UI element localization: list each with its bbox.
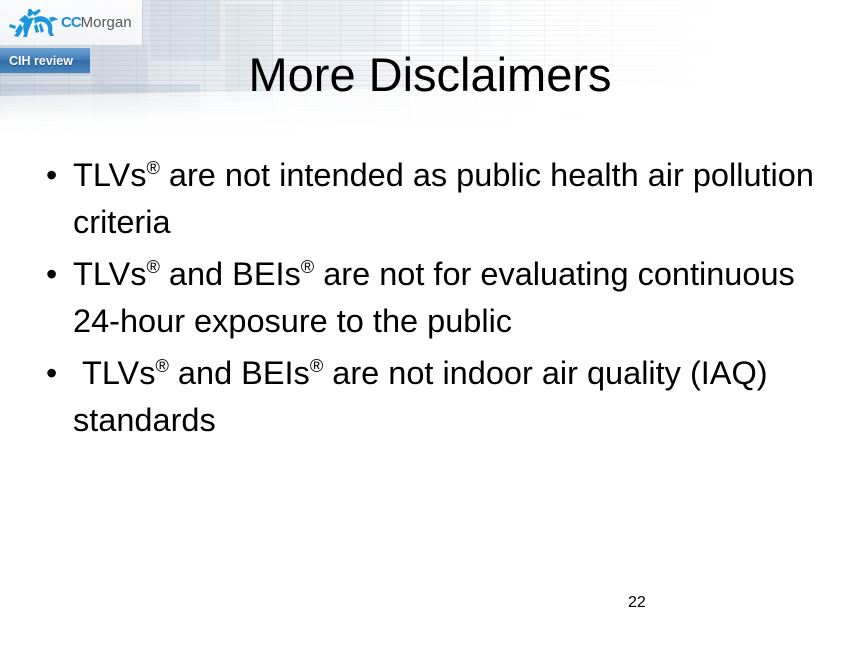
logo-cc-text: CC: [61, 14, 81, 31]
logo-wordmark: Morgan: [81, 14, 132, 31]
bullet-marker: •: [40, 251, 73, 298]
bullet-marker: •: [40, 350, 73, 397]
page-number: 22: [628, 594, 646, 612]
page-title: More Disclaimers: [0, 46, 860, 104]
bullet-text: TLVs® and BEIs® are not indoor air quali…: [73, 350, 830, 444]
list-item: • TLVs® and BEIs® are not for evaluating…: [40, 251, 830, 345]
equestrian-rider-logo-icon: [8, 6, 60, 40]
slide-canvas: CC Morgan CIH review More Disclaimers • …: [0, 0, 860, 650]
list-item: • TLVs® are not intended as public healt…: [40, 152, 830, 246]
list-item: • TLVs® and BEIs® are not indoor air qua…: [40, 350, 830, 444]
bullet-text: TLVs® and BEIs® are not for evaluating c…: [73, 251, 830, 345]
bullet-text: TLVs® are not intended as public health …: [73, 152, 830, 246]
brand-logo-plate: CC Morgan: [0, 0, 143, 46]
bullet-marker: •: [40, 152, 73, 199]
header-photo-block: [282, 0, 402, 52]
bullet-list: • TLVs® are not intended as public healt…: [40, 152, 830, 449]
